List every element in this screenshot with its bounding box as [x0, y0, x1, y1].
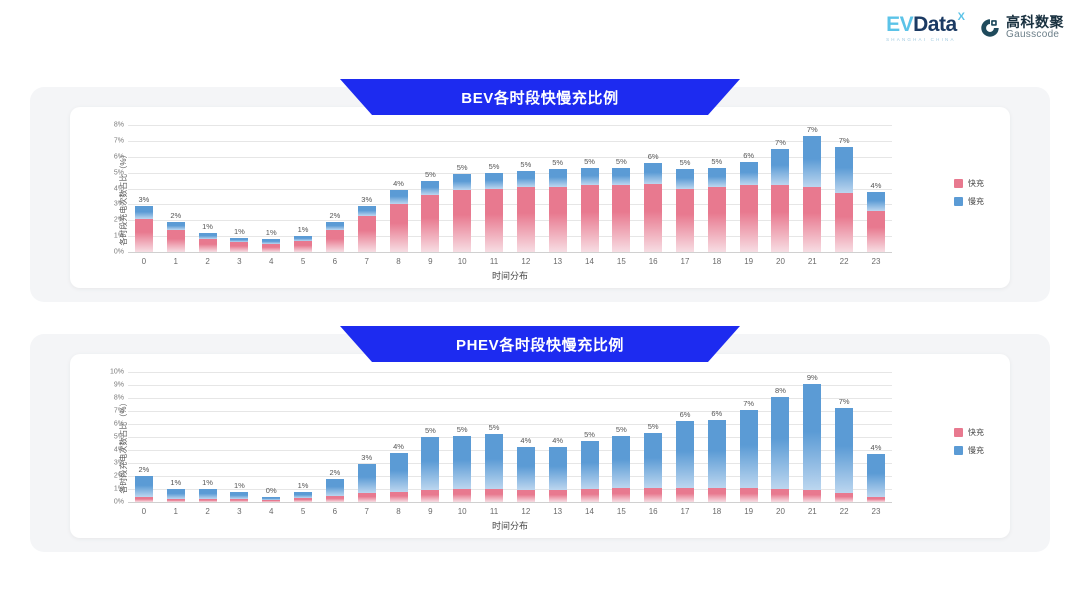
bar-segment-fast-charge[interactable]	[803, 187, 821, 252]
bar-segment-slow-charge[interactable]	[135, 206, 153, 219]
stacked-bar[interactable]	[167, 489, 185, 502]
x-axis-tick: 5	[301, 257, 305, 266]
x-axis-tick: 1	[174, 507, 178, 516]
bar-segment-fast-charge[interactable]	[390, 492, 408, 502]
x-axis-tick: 2	[205, 257, 209, 266]
bar-segment-fast-charge[interactable]	[803, 490, 821, 502]
stacked-bar[interactable]	[230, 492, 248, 502]
stacked-bar[interactable]	[740, 162, 758, 252]
bar-group[interactable]: 3%0	[128, 125, 160, 252]
bar-segment-fast-charge[interactable]	[740, 488, 758, 502]
bar-value-label: 7%	[824, 397, 864, 406]
x-axis-tick: 21	[808, 507, 817, 516]
bar-group[interactable]: 9%21	[796, 372, 828, 502]
bar-group[interactable]: 5%15	[605, 125, 637, 252]
bar-group[interactable]: 5%10	[446, 125, 478, 252]
bar-segment-fast-charge[interactable]	[167, 499, 185, 502]
bar-segment-slow-charge[interactable]	[835, 408, 853, 493]
y-axis-tick: 7%	[102, 137, 124, 144]
x-axis-label: 时间分布	[128, 269, 892, 282]
x-axis-tick: 14	[585, 507, 594, 516]
y-axis-tick: 0%	[102, 499, 124, 506]
bar-segment-fast-charge[interactable]	[676, 488, 694, 502]
bar-group[interactable]: 5%14	[574, 125, 606, 252]
bar-segment-slow-charge[interactable]	[771, 397, 789, 489]
bar-segment-slow-charge[interactable]	[453, 174, 471, 190]
x-axis-tick: 12	[521, 507, 530, 516]
bar-value-label: 7%	[729, 399, 769, 408]
y-axis-tick: 10%	[102, 369, 124, 376]
stacked-bar[interactable]	[803, 384, 821, 502]
bar-group[interactable]: 1%5	[287, 125, 319, 252]
bar-value-label: 9%	[792, 373, 832, 382]
bar-segment-slow-charge[interactable]	[485, 173, 503, 189]
phev-panel: 各时段充电次数占比（%）2%01%11%21%30%41%52%63%74%85…	[30, 334, 1050, 552]
x-axis-tick: 22	[840, 257, 849, 266]
bar-group[interactable]: 5%16	[637, 372, 669, 502]
x-axis-tick: 8	[396, 507, 400, 516]
bar-segment-fast-charge[interactable]	[740, 185, 758, 252]
bar-group[interactable]: 5%18	[701, 125, 733, 252]
bar-value-label: 2%	[156, 211, 196, 220]
x-axis-tick: 23	[872, 257, 881, 266]
bar-series-container: 2%01%11%21%30%41%52%63%74%85%95%105%114%…	[128, 372, 892, 502]
x-axis-tick: 7	[364, 507, 368, 516]
legend-label: 快充	[968, 427, 984, 438]
x-axis-tick: 1	[174, 257, 178, 266]
bar-segment-slow-charge[interactable]	[581, 168, 599, 185]
bar-segment-fast-charge[interactable]	[358, 493, 376, 502]
legend-label: 快充	[968, 178, 984, 189]
stacked-bar[interactable]	[199, 233, 217, 252]
bar-segment-fast-charge[interactable]	[199, 499, 217, 502]
bar-segment-fast-charge[interactable]	[199, 239, 217, 252]
y-axis-tick: 2%	[102, 217, 124, 224]
stacked-bar[interactable]	[771, 397, 789, 502]
bar-segment-fast-charge[interactable]	[612, 185, 630, 252]
legend-label: 慢充	[968, 445, 984, 456]
y-axis-tick: 4%	[102, 447, 124, 454]
gausscode-text: 高科数聚 Gausscode	[1006, 15, 1064, 41]
x-axis-tick: 15	[617, 257, 626, 266]
bar-segment-fast-charge[interactable]	[612, 488, 630, 502]
bar-group[interactable]: 8%20	[765, 372, 797, 502]
x-axis-tick: 17	[681, 257, 690, 266]
logo-bar: EV Data X SHANGHAI CHINA 高科数聚 Gausscode	[886, 14, 1064, 42]
bar-segment-slow-charge[interactable]	[167, 489, 185, 499]
x-axis-tick: 3	[237, 507, 241, 516]
stacked-bar[interactable]	[262, 239, 280, 252]
bar-segment-fast-charge[interactable]	[485, 189, 503, 253]
x-axis-tick: 18	[712, 257, 721, 266]
bar-group[interactable]: 1%3	[223, 372, 255, 502]
stacked-bar[interactable]	[867, 192, 885, 252]
bar-segment-slow-charge[interactable]	[803, 384, 821, 491]
bev-title-text: BEV各时段快慢充比例	[461, 87, 618, 108]
bar-segment-slow-charge[interactable]	[549, 169, 567, 186]
bar-segment-slow-charge[interactable]	[867, 192, 885, 211]
x-axis-tick: 0	[142, 257, 146, 266]
bar-segment-fast-charge[interactable]	[581, 185, 599, 252]
bar-series-container: 3%02%11%21%31%41%52%63%74%85%95%105%115%…	[128, 125, 892, 252]
x-axis-tick: 8	[396, 257, 400, 266]
bar-segment-slow-charge[interactable]	[167, 222, 185, 230]
x-axis-tick: 10	[458, 257, 467, 266]
bar-value-label: 5%	[633, 422, 673, 431]
slide-page: EV Data X SHANGHAI CHINA 高科数聚 Gausscode	[0, 0, 1080, 608]
stacked-bar[interactable]	[517, 171, 535, 252]
x-axis-tick: 4	[269, 257, 273, 266]
stacked-bar[interactable]	[771, 149, 789, 252]
bar-segment-slow-charge[interactable]	[421, 437, 439, 490]
bar-segment-fast-charge[interactable]	[453, 190, 471, 252]
bar-value-label: 2%	[315, 468, 355, 477]
bar-segment-slow-charge[interactable]	[708, 420, 726, 488]
x-axis-tick: 13	[553, 257, 562, 266]
stacked-bar[interactable]	[294, 492, 312, 502]
legend-item[interactable]: 慢充	[954, 445, 984, 456]
bar-segment-slow-charge[interactable]	[421, 181, 439, 195]
bar-segment-fast-charge[interactable]	[549, 490, 567, 502]
bar-segment-fast-charge[interactable]	[771, 185, 789, 252]
x-axis-tick: 16	[649, 507, 658, 516]
stacked-bar[interactable]	[167, 222, 185, 252]
legend-item[interactable]: 快充	[954, 427, 984, 438]
y-axis-tick: 5%	[102, 434, 124, 441]
x-axis-tick: 16	[649, 257, 658, 266]
bar-group[interactable]: 5%11	[478, 125, 510, 252]
evdata-superscript-x: X	[958, 12, 965, 23]
stacked-bar[interactable]	[612, 436, 630, 502]
gausscode-logo: 高科数聚 Gausscode	[979, 15, 1064, 41]
bar-segment-fast-charge[interactable]	[867, 497, 885, 502]
y-axis-tick: 5%	[102, 169, 124, 176]
stacked-bar[interactable]	[390, 190, 408, 252]
x-axis-line	[128, 502, 892, 503]
x-axis-tick: 22	[840, 507, 849, 516]
stacked-bar[interactable]	[708, 168, 726, 252]
bar-value-label: 6%	[729, 151, 769, 160]
bar-segment-fast-charge[interactable]	[708, 488, 726, 502]
stacked-bar[interactable]	[549, 447, 567, 502]
bar-value-label: 1%	[283, 225, 323, 234]
bar-segment-slow-charge[interactable]	[390, 190, 408, 204]
bar-segment-fast-charge[interactable]	[358, 216, 376, 253]
bar-segment-fast-charge[interactable]	[517, 187, 535, 252]
stacked-bar[interactable]	[485, 173, 503, 252]
bar-group[interactable]: 5%15	[605, 372, 637, 502]
bar-segment-slow-charge[interactable]	[581, 441, 599, 489]
bar-segment-slow-charge[interactable]	[358, 206, 376, 216]
bar-segment-fast-charge[interactable]	[644, 488, 662, 502]
x-axis-tick: 17	[681, 507, 690, 516]
bar-segment-fast-charge[interactable]	[453, 489, 471, 502]
plot-area: 3%02%11%21%31%41%52%63%74%85%95%105%115%…	[128, 125, 892, 252]
y-axis-tick: 6%	[102, 153, 124, 160]
bar-segment-fast-charge[interactable]	[676, 189, 694, 253]
bar-group[interactable]: 5%13	[542, 125, 574, 252]
bar-segment-fast-charge[interactable]	[135, 219, 153, 252]
bar-value-label: 1%	[283, 481, 323, 490]
bar-segment-fast-charge[interactable]	[294, 241, 312, 252]
bar-group[interactable]: 5%10	[446, 372, 478, 502]
bar-segment-fast-charge[interactable]	[135, 497, 153, 502]
x-axis-tick: 20	[776, 257, 785, 266]
legend-color-swatch	[954, 179, 963, 188]
bar-segment-slow-charge[interactable]	[517, 171, 535, 187]
chart-legend: 快充慢充	[954, 427, 984, 456]
bar-value-label: 4%	[856, 181, 896, 190]
legend-item[interactable]: 快充	[954, 178, 984, 189]
bar-segment-fast-charge[interactable]	[167, 230, 185, 252]
bar-segment-fast-charge[interactable]	[867, 211, 885, 252]
bar-group[interactable]: 2%6	[319, 125, 351, 252]
bar-group[interactable]: 6%17	[669, 372, 701, 502]
bev-chart: 各时段充电次数占比（%）3%02%11%21%31%41%52%63%74%85…	[70, 107, 1010, 288]
bar-group[interactable]: 4%23	[860, 125, 892, 252]
bar-group[interactable]: 4%8	[383, 125, 415, 252]
bar-value-label: 7%	[824, 136, 864, 145]
phev-title-text: PHEV各时段快慢充比例	[456, 334, 624, 355]
bar-segment-fast-charge[interactable]	[835, 493, 853, 502]
bar-group[interactable]: 5%9	[414, 125, 446, 252]
phev-card: 各时段充电次数占比（%）2%01%11%21%30%41%52%63%74%85…	[70, 354, 1010, 538]
x-axis-tick: 6	[333, 257, 337, 266]
stacked-bar[interactable]	[708, 420, 726, 502]
stacked-bar[interactable]	[644, 163, 662, 252]
bar-segment-slow-charge[interactable]	[644, 433, 662, 488]
bar-value-label: 2%	[124, 465, 164, 474]
x-axis-tick: 6	[333, 507, 337, 516]
stacked-bar[interactable]	[294, 236, 312, 252]
stacked-bar[interactable]	[644, 433, 662, 502]
bar-segment-slow-charge[interactable]	[644, 163, 662, 184]
stacked-bar[interactable]	[135, 206, 153, 252]
stacked-bar[interactable]	[390, 453, 408, 502]
bar-segment-slow-charge[interactable]	[676, 169, 694, 188]
bev-title-banner: BEV各时段快慢充比例	[340, 79, 740, 115]
y-axis-tick: 1%	[102, 486, 124, 493]
bar-segment-fast-charge[interactable]	[708, 187, 726, 252]
evdata-subtitle: SHANGHAI CHINA	[886, 37, 956, 42]
bar-segment-slow-charge[interactable]	[612, 436, 630, 488]
bar-segment-fast-charge[interactable]	[581, 489, 599, 502]
stacked-bar[interactable]	[453, 174, 471, 252]
bar-value-label: 4%	[856, 443, 896, 452]
bar-segment-slow-charge[interactable]	[803, 136, 821, 187]
bar-segment-fast-charge[interactable]	[835, 193, 853, 252]
x-axis-tick: 23	[872, 507, 881, 516]
y-axis-tick: 3%	[102, 201, 124, 208]
bar-segment-slow-charge[interactable]	[453, 436, 471, 489]
bar-segment-slow-charge[interactable]	[326, 479, 344, 496]
bar-segment-slow-charge[interactable]	[676, 421, 694, 487]
x-axis-tick: 12	[521, 257, 530, 266]
stacked-bar[interactable]	[135, 476, 153, 502]
stacked-bar[interactable]	[421, 437, 439, 502]
bar-segment-slow-charge[interactable]	[835, 147, 853, 193]
stacked-bar[interactable]	[835, 147, 853, 252]
bar-segment-fast-charge[interactable]	[262, 500, 280, 502]
x-axis-tick: 13	[553, 507, 562, 516]
plot-area: 2%01%11%21%30%41%52%63%74%85%95%105%114%…	[128, 372, 892, 502]
x-axis-tick: 11	[490, 257, 498, 266]
bar-segment-slow-charge[interactable]	[517, 447, 535, 490]
legend-item[interactable]: 慢充	[954, 196, 984, 207]
evdata-wordmark: EV Data X	[886, 14, 965, 35]
bar-segment-slow-charge[interactable]	[740, 162, 758, 186]
bar-group[interactable]: 4%8	[383, 372, 415, 502]
bar-value-label: 2%	[315, 211, 355, 220]
y-axis-tick: 6%	[102, 421, 124, 428]
x-axis-tick: 3	[237, 257, 241, 266]
x-axis-tick: 9	[428, 257, 432, 266]
bar-segment-slow-charge[interactable]	[867, 454, 885, 497]
x-axis-tick: 18	[712, 507, 721, 516]
gausscode-circle-icon	[979, 17, 1001, 39]
stacked-bar[interactable]	[358, 206, 376, 252]
stacked-bar[interactable]	[421, 181, 439, 252]
y-axis-tick: 4%	[102, 185, 124, 192]
legend-color-swatch	[954, 197, 963, 206]
gausscode-en-name: Gausscode	[1006, 30, 1064, 41]
y-axis-tick: 8%	[102, 122, 124, 129]
bar-segment-fast-charge[interactable]	[549, 187, 567, 252]
bar-segment-slow-charge[interactable]	[708, 168, 726, 187]
y-axis-tick: 8%	[102, 395, 124, 402]
bar-segment-fast-charge[interactable]	[390, 204, 408, 252]
bar-value-label: 8%	[760, 386, 800, 395]
bar-segment-slow-charge[interactable]	[326, 222, 344, 230]
bar-group[interactable]: 2%6	[319, 372, 351, 502]
bar-group[interactable]: 7%20	[765, 125, 797, 252]
gausscode-cn-name: 高科数聚	[1006, 15, 1064, 30]
evdata-ev-text: EV	[886, 14, 913, 35]
evdata-data-text: Data	[913, 14, 957, 35]
bar-group[interactable]: 3%7	[351, 372, 383, 502]
bar-segment-fast-charge[interactable]	[421, 195, 439, 252]
bar-segment-slow-charge[interactable]	[390, 453, 408, 492]
stacked-bar[interactable]	[358, 464, 376, 502]
bar-segment-fast-charge[interactable]	[326, 230, 344, 252]
stacked-bar[interactable]	[326, 222, 344, 252]
stacked-bar[interactable]	[199, 489, 217, 502]
x-axis-tick: 20	[776, 507, 785, 516]
stacked-bar[interactable]	[676, 421, 694, 502]
stacked-bar[interactable]	[676, 169, 694, 252]
bar-value-label: 6%	[697, 409, 737, 418]
bar-value-label: 7%	[760, 138, 800, 147]
bar-segment-slow-charge[interactable]	[199, 489, 217, 499]
bar-group[interactable]: 6%16	[637, 125, 669, 252]
bar-segment-fast-charge[interactable]	[644, 184, 662, 252]
bar-group[interactable]: 5%12	[510, 125, 542, 252]
y-axis-tick: 2%	[102, 473, 124, 480]
bar-segment-slow-charge[interactable]	[485, 434, 503, 489]
stacked-bar[interactable]	[581, 168, 599, 252]
x-axis-tick: 4	[269, 507, 273, 516]
x-axis-label: 时间分布	[128, 519, 892, 532]
stacked-bar[interactable]	[517, 447, 535, 502]
bar-segment-slow-charge[interactable]	[135, 476, 153, 497]
x-axis-line	[128, 252, 892, 253]
bar-value-label: 4%	[379, 179, 419, 188]
bar-segment-slow-charge[interactable]	[358, 464, 376, 493]
x-axis-tick: 11	[490, 507, 498, 516]
stacked-bar[interactable]	[485, 434, 503, 502]
stacked-bar[interactable]	[740, 410, 758, 502]
x-axis-tick: 14	[585, 257, 594, 266]
bar-segment-slow-charge[interactable]	[771, 149, 789, 186]
legend-label: 慢充	[968, 196, 984, 207]
x-axis-tick: 5	[301, 507, 305, 516]
bar-segment-slow-charge[interactable]	[549, 447, 567, 490]
phev-chart: 各时段充电次数占比（%）2%01%11%21%30%41%52%63%74%85…	[70, 354, 1010, 538]
bar-group[interactable]: 5%14	[574, 372, 606, 502]
bar-segment-fast-charge[interactable]	[294, 498, 312, 502]
y-axis-tick: 1%	[102, 233, 124, 240]
bar-group[interactable]: 1%5	[287, 372, 319, 502]
bar-segment-fast-charge[interactable]	[771, 489, 789, 502]
stacked-bar[interactable]	[453, 436, 471, 502]
legend-color-swatch	[954, 428, 963, 437]
x-axis-tick: 21	[808, 257, 817, 266]
stacked-bar[interactable]	[326, 479, 344, 502]
bar-group[interactable]: 5%17	[669, 125, 701, 252]
stacked-bar[interactable]	[612, 168, 630, 252]
bar-segment-fast-charge[interactable]	[485, 489, 503, 502]
bar-segment-fast-charge[interactable]	[230, 499, 248, 502]
bev-card: 各时段充电次数占比（%）3%02%11%21%31%41%52%63%74%85…	[70, 107, 1010, 288]
bar-segment-fast-charge[interactable]	[230, 242, 248, 252]
bar-value-label: 7%	[792, 125, 832, 134]
bar-segment-slow-charge[interactable]	[230, 492, 248, 500]
bar-group[interactable]: 5%9	[414, 372, 446, 502]
y-axis-tick: 0%	[102, 249, 124, 256]
stacked-bar[interactable]	[262, 497, 280, 502]
bar-segment-fast-charge[interactable]	[262, 244, 280, 252]
bar-segment-fast-charge[interactable]	[326, 496, 344, 503]
bar-group[interactable]: 6%18	[701, 372, 733, 502]
bar-segment-slow-charge[interactable]	[612, 168, 630, 185]
bar-segment-fast-charge[interactable]	[517, 490, 535, 502]
stacked-bar[interactable]	[581, 441, 599, 502]
evdata-logo: EV Data X SHANGHAI CHINA	[886, 14, 965, 42]
bev-panel: 各时段充电次数占比（%）3%02%11%21%31%41%52%63%74%85…	[30, 87, 1050, 302]
x-axis-tick: 10	[458, 507, 467, 516]
bar-value-label: 3%	[347, 195, 387, 204]
stacked-bar[interactable]	[835, 408, 853, 502]
bar-group[interactable]: 4%23	[860, 372, 892, 502]
y-axis-tick: 9%	[102, 382, 124, 389]
stacked-bar[interactable]	[549, 169, 567, 252]
bar-group[interactable]: 3%7	[351, 125, 383, 252]
x-axis-tick: 19	[744, 257, 753, 266]
x-axis-tick: 15	[617, 507, 626, 516]
stacked-bar[interactable]	[230, 238, 248, 252]
bar-segment-fast-charge[interactable]	[421, 490, 439, 502]
x-axis-tick: 9	[428, 507, 432, 516]
bar-value-label: 5%	[474, 423, 514, 432]
legend-color-swatch	[954, 446, 963, 455]
phev-title-banner: PHEV各时段快慢充比例	[340, 326, 740, 362]
bar-segment-slow-charge[interactable]	[740, 410, 758, 488]
bar-value-label: 3%	[347, 453, 387, 462]
stacked-bar[interactable]	[803, 136, 821, 252]
stacked-bar[interactable]	[867, 454, 885, 502]
bar-group[interactable]: 7%22	[828, 372, 860, 502]
bar-group[interactable]: 2%1	[160, 125, 192, 252]
